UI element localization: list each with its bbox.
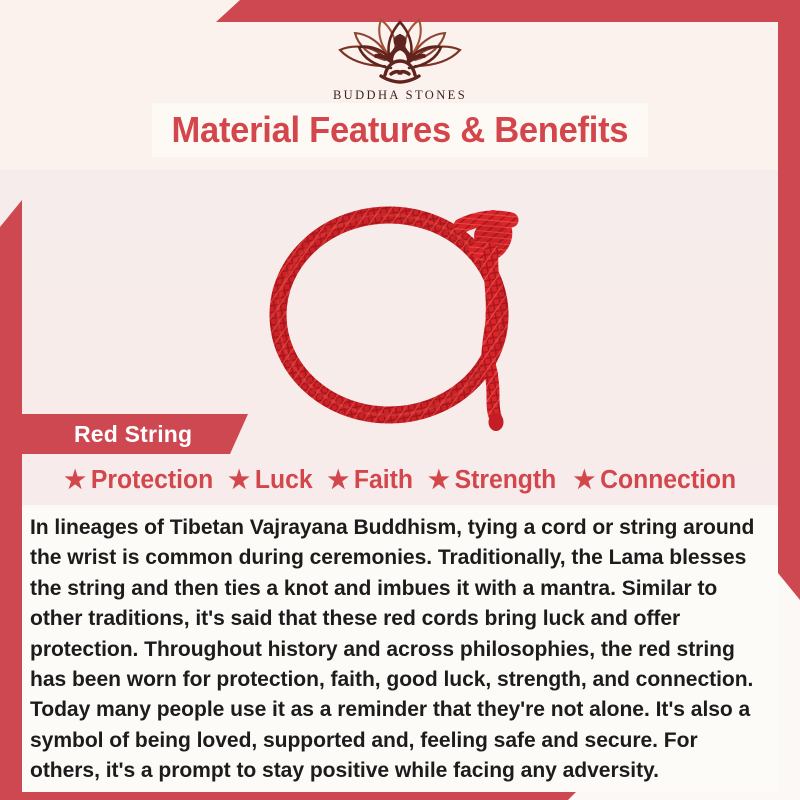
description-panel: In lineages of Tibetan Vajrayana Buddhis… bbox=[22, 508, 778, 792]
lotus-meditation-icon bbox=[325, 14, 475, 86]
feature-list: ★ Protection ★ Luck ★ Faith ★ Strength ★… bbox=[22, 466, 778, 495]
feature-item-connection: ★ Connection bbox=[567, 466, 741, 495]
star-icon: ★ bbox=[228, 468, 250, 493]
description-paragraph: In lineages of Tibetan Vajrayana Buddhis… bbox=[30, 512, 759, 786]
section-ribbon-label: Red String bbox=[74, 421, 192, 448]
brand-wordmark: BUDDHA STONES bbox=[0, 88, 800, 103]
star-icon: ★ bbox=[327, 468, 349, 493]
feature-label: Protection bbox=[91, 466, 213, 495]
feature-label: Strength bbox=[455, 466, 557, 495]
infographic-card: BUDDHA STONES Material Features & Benefi… bbox=[0, 0, 800, 800]
star-icon: ★ bbox=[64, 468, 86, 493]
feature-item-protection: ★ Protection bbox=[58, 466, 219, 495]
red-string-bracelet-image bbox=[255, 160, 545, 450]
feature-item-strength: ★ Strength bbox=[423, 466, 563, 495]
feature-item-luck: ★ Luck bbox=[223, 466, 319, 495]
feature-item-faith: ★ Faith bbox=[322, 466, 419, 495]
star-icon: ★ bbox=[428, 468, 450, 493]
brand-logo: BUDDHA STONES bbox=[0, 14, 800, 103]
page-title-band: Material Features & Benefits bbox=[152, 103, 648, 157]
feature-label: Connection bbox=[600, 466, 736, 495]
feature-label: Luck bbox=[255, 466, 313, 495]
page-title: Material Features & Benefits bbox=[172, 109, 629, 151]
feature-label: Faith bbox=[354, 466, 413, 495]
section-ribbon: Red String bbox=[22, 414, 248, 454]
star-icon: ★ bbox=[573, 468, 595, 493]
